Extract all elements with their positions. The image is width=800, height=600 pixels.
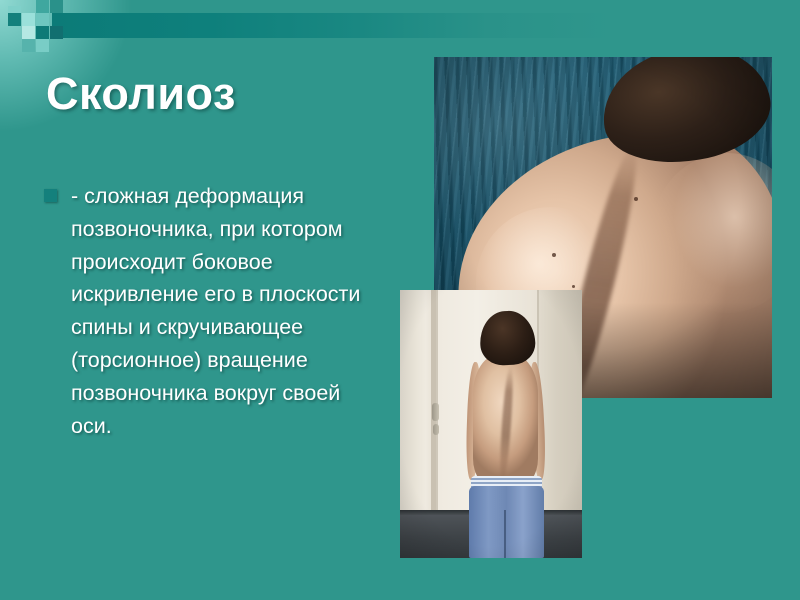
header-accent-bar <box>52 13 612 38</box>
photo-standing <box>400 290 582 558</box>
decoration-square <box>22 39 35 52</box>
square-bullet-icon <box>44 189 57 202</box>
decoration-square <box>36 26 49 39</box>
decoration-square <box>36 39 49 52</box>
photo-vignette <box>400 290 582 558</box>
list-item: - сложная деформация позвоночника, при к… <box>44 180 374 442</box>
page-title: Сколиоз <box>46 68 236 120</box>
decoration-square <box>8 13 21 26</box>
decoration-square <box>22 26 35 39</box>
decoration-square <box>22 13 35 26</box>
presentation-slide: Сколиоз - сложная деформация позвоночник… <box>0 0 800 600</box>
decoration-square <box>36 13 49 26</box>
decoration-square <box>50 26 63 39</box>
bullet-list: - сложная деформация позвоночника, при к… <box>44 180 374 442</box>
decoration-square <box>50 0 63 13</box>
bullet-text: - сложная деформация позвоночника, при к… <box>71 180 374 442</box>
decoration-square <box>36 0 49 13</box>
